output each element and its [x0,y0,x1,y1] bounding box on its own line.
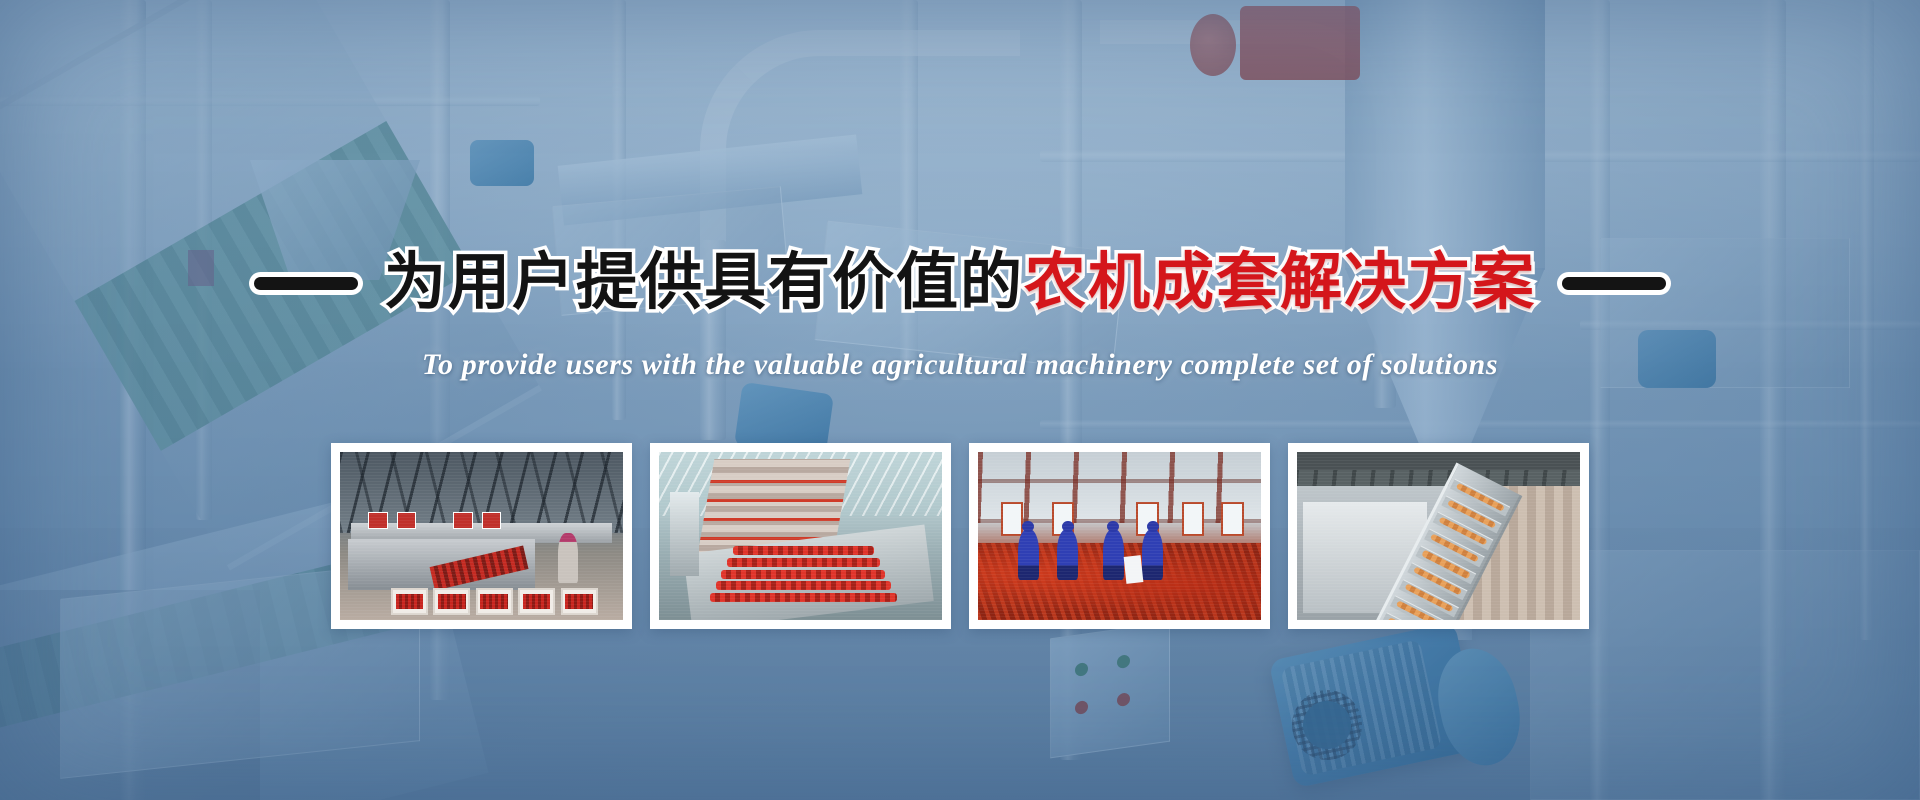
headline-dash-right-icon [1562,277,1666,290]
thumbnail-card-2[interactable] [650,443,951,629]
headline-black-text: 为用户提供具有价值的 [384,252,1024,314]
t2-lane-1 [733,546,875,555]
t3-worker-1 [1018,529,1039,579]
background-vignette [0,0,1920,800]
t3-worker-2 [1057,529,1078,579]
subtitle: To provide users with the valuable agric… [0,348,1920,382]
headline-row: 为用户提供具有价值的 农机成套解决方案 [0,252,1920,314]
thumbnail-card-3[interactable] [969,443,1270,629]
thumbnail-card-4[interactable] [1288,443,1589,629]
background-photo [0,0,1920,800]
t2-lane-5 [710,593,897,602]
t3-window-4 [1182,502,1205,536]
t2-lane-3 [721,570,885,579]
t1-goji-1 [396,594,424,609]
t3-worker-3 [1103,529,1124,579]
t1-goji-3 [480,594,508,609]
thumbnail-image-mesh-belt-dryer [659,452,942,620]
t2-duct [670,492,698,576]
t3-white-sack [1124,555,1144,584]
headline: 为用户提供具有价值的 农机成套解决方案 [384,252,1536,314]
t1-red-sign-1 [368,512,388,529]
headline-red-text: 农机成套解决方案 [1024,252,1536,314]
thumbnail-image-chili-drying-workshop [978,452,1261,620]
t1-goji-5 [565,594,593,609]
t1-red-sign-4 [482,512,502,529]
headline-dash-left-icon [254,277,358,290]
thumbnail-strip [331,443,1589,629]
t1-goji-4 [523,594,551,609]
t4-top-beam [1297,452,1580,470]
thumbnail-image-incline-bucket-conveyor [1297,452,1580,620]
thumbnail-image-goji-drying-line [340,452,623,620]
t2-lane-4 [716,581,891,590]
hero-banner: 为用户提供具有价值的 农机成套解决方案 To provide users wit… [0,0,1920,800]
t3-worker-4 [1142,529,1163,579]
t3-window-1 [1001,502,1024,536]
t3-window-5 [1221,502,1244,536]
t2-lane-2 [727,558,880,567]
t1-red-sign-2 [397,512,417,529]
t1-red-sign-3 [453,512,473,529]
thumbnail-card-1[interactable] [331,443,632,629]
t1-worker [558,533,578,583]
t1-goji-2 [438,594,466,609]
